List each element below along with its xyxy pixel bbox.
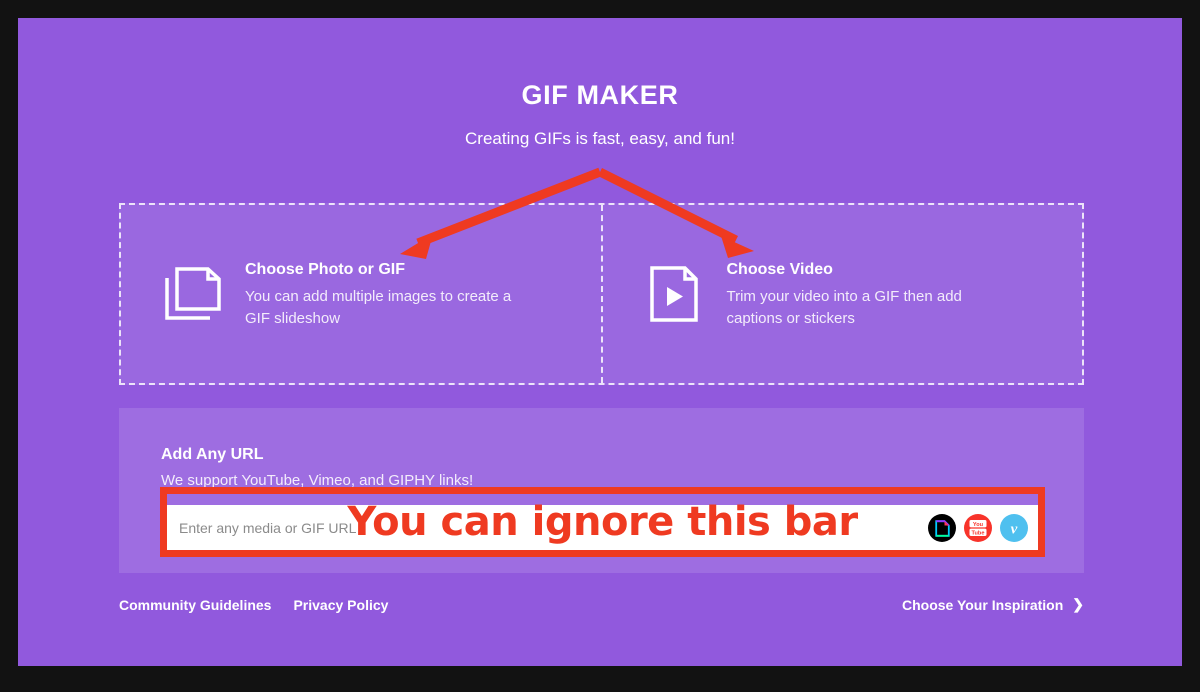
footer: Community Guidelines Privacy Policy Choo… <box>119 596 1084 613</box>
url-input[interactable] <box>179 505 928 551</box>
svg-text:v: v <box>1011 522 1018 538</box>
choose-photo-or-gif-card[interactable]: Choose Photo or GIF You can add multiple… <box>121 205 601 383</box>
community-guidelines-link[interactable]: Community Guidelines <box>119 597 271 613</box>
video-file-play-icon <box>645 263 707 325</box>
inspiration-label: Choose Your Inspiration <box>902 597 1063 613</box>
vimeo-icon[interactable]: v <box>1000 514 1028 542</box>
choice-cards-container: Choose Photo or GIF You can add multiple… <box>119 203 1084 385</box>
svg-text:You: You <box>973 522 984 528</box>
footer-links: Community Guidelines Privacy Policy <box>119 597 388 613</box>
add-url-subtitle: We support YouTube, Vimeo, and GIPHY lin… <box>161 472 1042 489</box>
svg-text:Tube: Tube <box>972 531 985 537</box>
card-title: Choose Photo or GIF <box>245 261 530 279</box>
header: GIF MAKER Creating GIFs is fast, easy, a… <box>18 18 1182 149</box>
add-url-panel: Add Any URL We support YouTube, Vimeo, a… <box>119 408 1084 573</box>
page-title: GIF MAKER <box>18 80 1182 111</box>
choose-video-card[interactable]: Choose Video Trim your video into a GIF … <box>601 205 1083 383</box>
giphy-media-icon[interactable] <box>928 514 956 542</box>
gif-maker-window: GIF MAKER Creating GIFs is fast, easy, a… <box>18 18 1182 666</box>
choose-photo-card-text: Choose Photo or GIF You can add multiple… <box>245 259 530 329</box>
privacy-policy-link[interactable]: Privacy Policy <box>293 597 388 613</box>
card-description: Trim your video into a GIF then add capt… <box>727 286 1012 329</box>
choose-video-card-text: Choose Video Trim your video into a GIF … <box>727 259 1012 329</box>
choose-your-inspiration-link[interactable]: Choose Your Inspiration ❯ <box>902 596 1084 613</box>
chevron-right-icon: ❯ <box>1072 596 1084 613</box>
stacked-photos-icon <box>163 263 225 325</box>
youtube-icon[interactable]: You Tube <box>964 514 992 542</box>
card-title: Choose Video <box>727 261 1012 279</box>
card-description: You can add multiple images to create a … <box>245 286 530 329</box>
provider-icons: You Tube v <box>928 514 1028 542</box>
page-subtitle: Creating GIFs is fast, easy, and fun! <box>18 129 1182 149</box>
url-input-row: You Tube v <box>161 505 1042 551</box>
add-url-title: Add Any URL <box>161 446 1042 464</box>
